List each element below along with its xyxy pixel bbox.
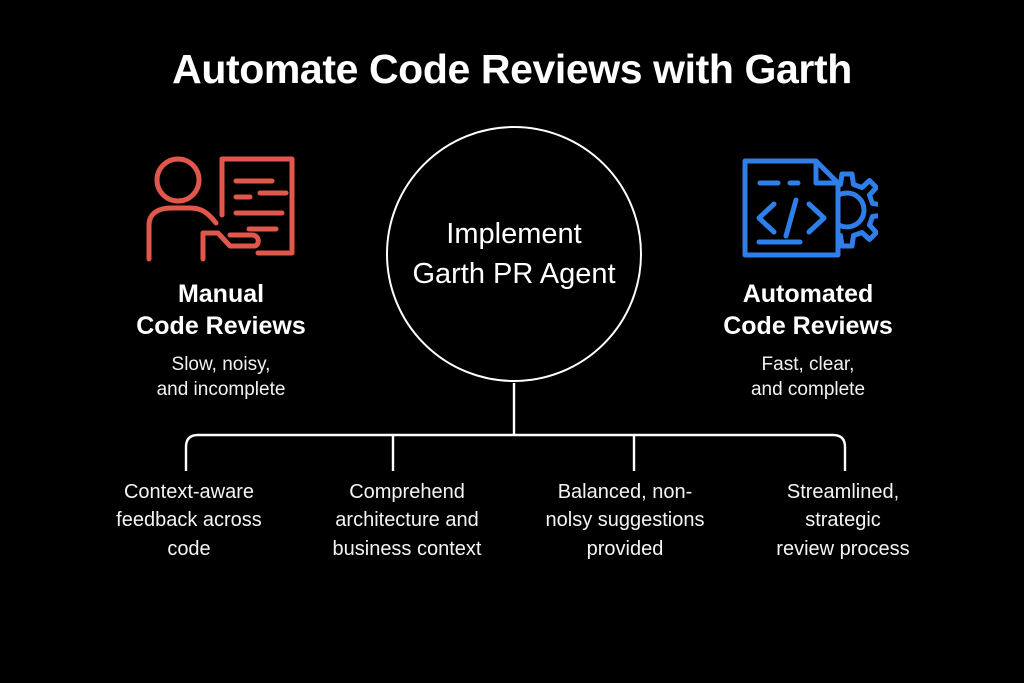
center-node-circle: Implement Garth PR Agent xyxy=(386,126,642,382)
center-node-line1: Implement xyxy=(446,214,581,254)
automated-subtitle-line2: and complete xyxy=(658,377,958,402)
manual-subtitle: Slow, noisy, and incomplete xyxy=(71,352,371,402)
manual-heading-line1: Manual xyxy=(71,278,371,310)
feature-4-line3: review process xyxy=(734,535,952,563)
feature-4-line1: Streamlined, xyxy=(734,478,952,506)
manual-subtitle-line2: and incomplete xyxy=(71,377,371,402)
automated-subtitle-line1: Fast, clear, xyxy=(658,352,958,377)
slide-canvas: Automate Code Reviews with Garth xyxy=(0,0,1024,683)
manual-heading: Manual Code Reviews xyxy=(71,278,371,342)
automated-heading-line1: Automated xyxy=(658,278,958,310)
manual-subtitle-line1: Slow, noisy, xyxy=(71,352,371,377)
feature-2-line2: architecture and xyxy=(298,506,516,534)
manual-code-reviews-column: Manual Code Reviews Slow, noisy, and inc… xyxy=(71,148,371,402)
feature-item-3: Balanced, non- nolsy suggestions provide… xyxy=(516,478,734,563)
code-document-gear-icon xyxy=(658,148,958,268)
feature-1-line1: Context-aware xyxy=(80,478,298,506)
manual-heading-line2: Code Reviews xyxy=(71,310,371,342)
connector-horizontal-bar xyxy=(186,435,845,471)
feature-2-line3: business context xyxy=(298,535,516,563)
feature-1-line3: code xyxy=(80,535,298,563)
automated-code-reviews-column: Automated Code Reviews Fast, clear, and … xyxy=(658,148,958,402)
feature-item-4: Streamlined, strategic review process xyxy=(734,478,952,563)
feature-4-line2: strategic xyxy=(734,506,952,534)
center-node-line2: Garth PR Agent xyxy=(412,254,615,294)
person-with-document-icon xyxy=(71,148,371,268)
automated-heading-line2: Code Reviews xyxy=(658,310,958,342)
automated-heading: Automated Code Reviews xyxy=(658,278,958,342)
page-title: Automate Code Reviews with Garth xyxy=(0,46,1024,93)
feature-2-line1: Comprehend xyxy=(298,478,516,506)
feature-item-2: Comprehend architecture and business con… xyxy=(298,478,516,563)
features-row: Context-aware feedback across code Compr… xyxy=(80,478,952,563)
feature-3-line3: provided xyxy=(516,535,734,563)
automated-subtitle: Fast, clear, and complete xyxy=(658,352,958,402)
feature-1-line2: feedback across xyxy=(80,506,298,534)
feature-item-1: Context-aware feedback across code xyxy=(80,478,298,563)
feature-3-line2: nolsy suggestions xyxy=(516,506,734,534)
feature-3-line1: Balanced, non- xyxy=(516,478,734,506)
